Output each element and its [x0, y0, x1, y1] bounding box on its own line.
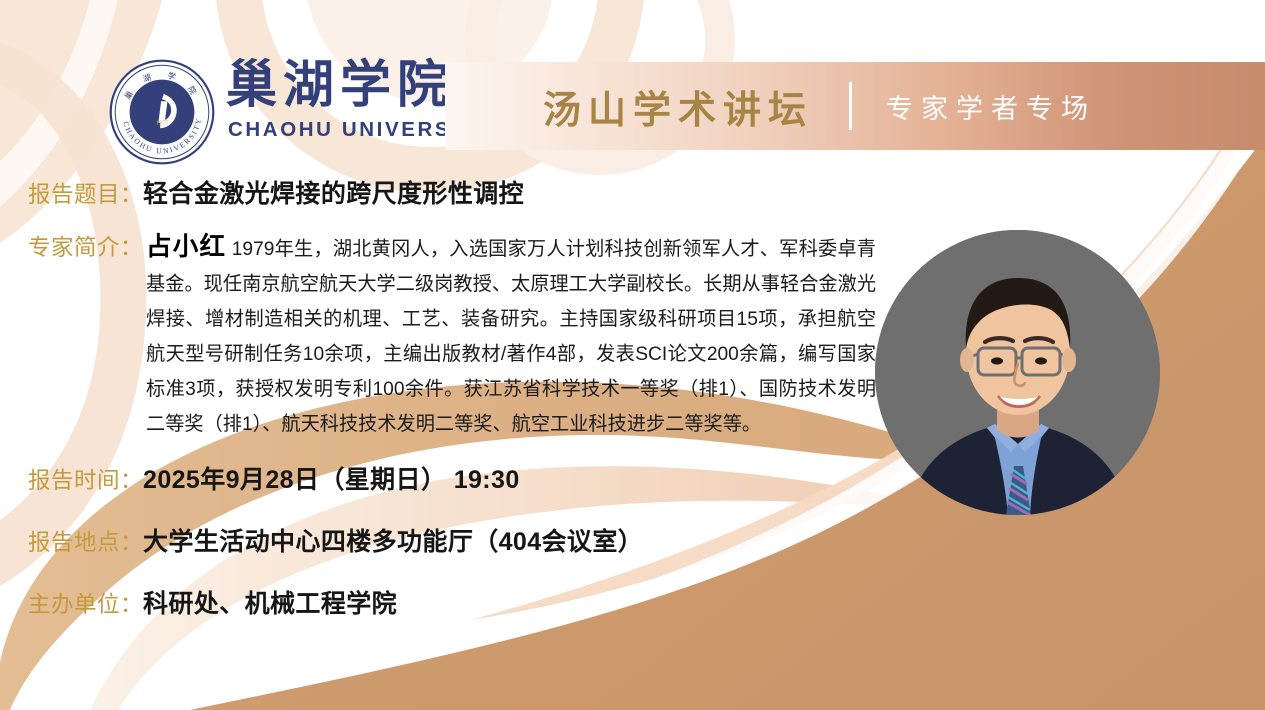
banner-title: 汤山学术讲坛: [543, 79, 813, 134]
report-title-row: 报告题目： 轻合金激光焊接的跨尺度形性调控: [28, 174, 524, 210]
report-place-row: 报告地点： 大学生活动中心四楼多功能厅（404会议室）: [28, 522, 643, 558]
poster-header: 1977 巢 湖 学 院 CHAOHU UNIVERSITY 巢湖学院 CHAO…: [0, 0, 1265, 162]
speaker-bio-text-block: 占小红 1979年生，湖北黄冈人，入选国家万人计划科技创新领军人才、军科委卓青基…: [146, 230, 876, 442]
svg-text:1977: 1977: [156, 120, 169, 127]
speaker-bio-text: 1979年生，湖北黄冈人，入选国家万人计划科技创新领军人才、军科委卓青基金。现任…: [146, 239, 876, 435]
speaker-portrait-image: [875, 230, 1160, 515]
speaker-name: 占小红: [146, 233, 226, 261]
report-title-label: 报告题目：: [28, 177, 143, 209]
speaker-bio-row: 专家简介： 占小红 1979年生，湖北黄冈人，入选国家万人计划科技创新领军人才、…: [28, 230, 888, 442]
report-title-value: 轻合金激光焊接的跨尺度形性调控: [143, 174, 524, 210]
banner-subtitle: 专家学者专场: [886, 87, 1096, 126]
report-time-row: 报告时间： 2025年9月28日（星期日） 19:30: [28, 460, 520, 496]
report-host-value: 科研处、机械工程学院: [143, 584, 397, 620]
lecture-poster: 1977 巢 湖 学 院 CHAOHU UNIVERSITY 巢湖学院 CHAO…: [0, 0, 1265, 710]
chaohu-university-emblem-icon: 1977 巢 湖 学 院 CHAOHU UNIVERSITY: [108, 58, 216, 166]
report-time-value: 2025年9月28日（星期日） 19:30: [143, 460, 520, 496]
speaker-bio-label: 专家简介：: [28, 230, 143, 262]
report-time-label: 报告时间：: [28, 463, 143, 495]
speaker-portrait: [875, 230, 1160, 515]
event-series-banner: 汤山学术讲坛 专家学者专场: [445, 62, 1265, 150]
banner-divider-icon: [849, 82, 852, 130]
report-host-label: 主办单位：: [28, 587, 143, 619]
report-place-value: 大学生活动中心四楼多功能厅（404会议室）: [143, 522, 643, 558]
report-place-label: 报告地点：: [28, 525, 143, 557]
report-host-row: 主办单位： 科研处、机械工程学院: [28, 584, 397, 620]
university-logo: 1977 巢 湖 学 院 CHAOHU UNIVERSITY 巢湖学院 CHAO…: [108, 56, 491, 166]
